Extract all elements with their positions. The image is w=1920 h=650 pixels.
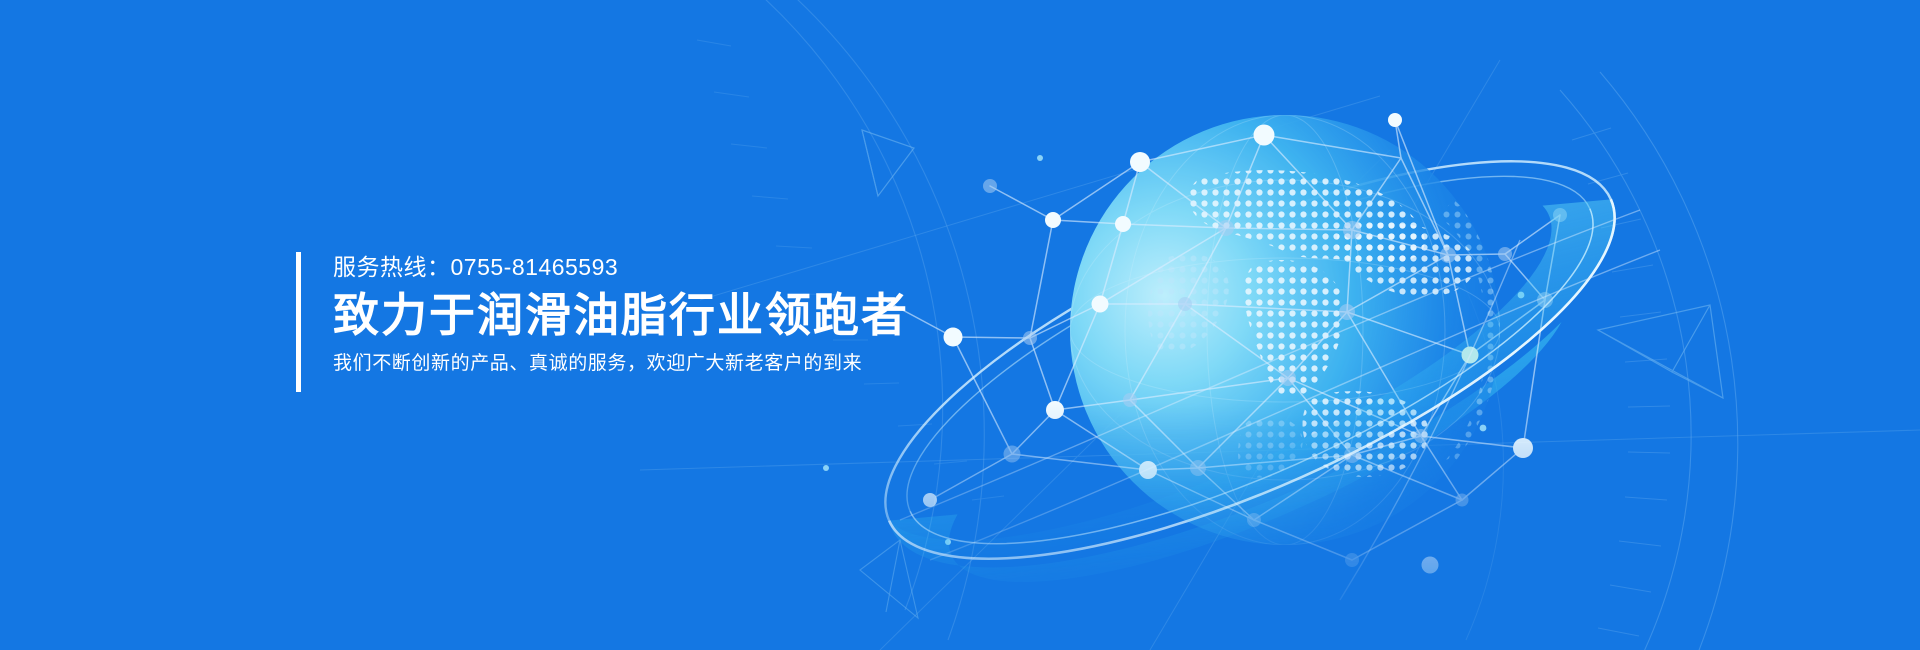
network-links <box>884 120 1560 560</box>
page-subtitle: 我们不断创新的产品、真诚的服务，欢迎广大新老客户的到来 <box>333 350 909 378</box>
orbital-ring-front <box>880 179 1663 637</box>
page-title: 致力于润滑油脂行业领跑者 <box>333 286 909 344</box>
radar-arc-rings-right <box>1420 72 1738 650</box>
orbital-ring-back <box>836 82 1674 650</box>
globe-sphere <box>1070 115 1500 545</box>
background-graphic <box>0 0 1920 650</box>
globe-dotted-continents <box>1148 170 1504 478</box>
sweep-lines <box>900 210 1660 600</box>
background-specks <box>823 155 1524 545</box>
hero-banner: 服务热线：0755-81465593 致力于润滑油脂行业领跑者 我们不断创新的产… <box>0 0 1920 650</box>
wireframe-triangles <box>860 130 1723 618</box>
service-hotline: 服务热线：0755-81465593 <box>333 252 909 282</box>
network-nodes-dim <box>983 179 1567 567</box>
network-mesh <box>884 113 1567 574</box>
network-nodes <box>923 113 1533 574</box>
hero-text-block: 服务热线：0755-81465593 致力于润滑油脂行业领跑者 我们不断创新的产… <box>296 252 909 392</box>
globe-network-illustration <box>1070 115 1504 545</box>
